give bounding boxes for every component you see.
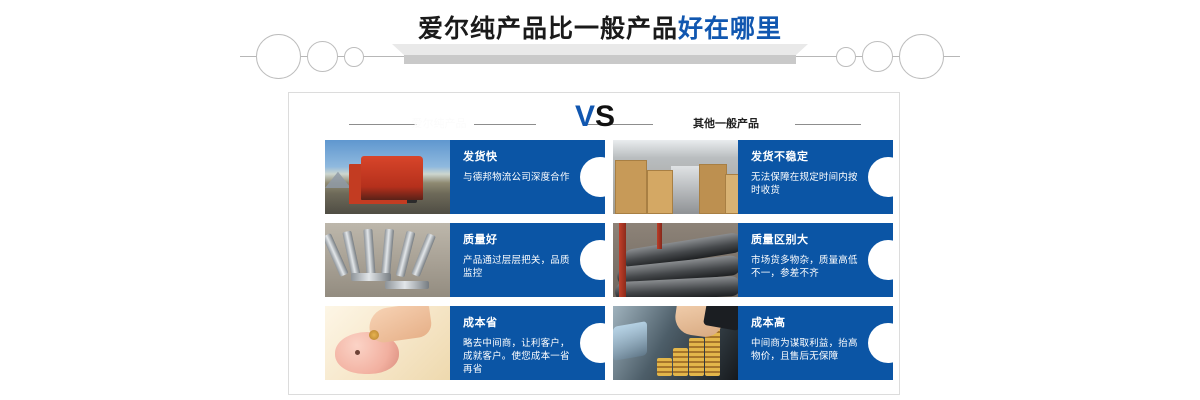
card-our-quality[interactable]: 质量好 产品通过层层把关，品质监控 (325, 223, 605, 297)
vs-badge: VS (289, 99, 901, 135)
card-our-cost[interactable]: 成本省 略去中间商，让利客户，成就客户。使您成本一省再省 (325, 306, 605, 380)
card-title: 发货快 (463, 151, 579, 164)
notch-circle-icon (868, 323, 893, 363)
card-title: 质量好 (463, 234, 579, 247)
gold-coins-photo (613, 306, 738, 380)
notch-circle-icon (580, 240, 605, 280)
card-desc: 略去中间商，让利客户，成就客户。使您成本一省再省 (463, 337, 579, 376)
page-title-plain: 爱尔纯产品比一般产品 (418, 15, 678, 43)
notch-circle-icon (868, 240, 893, 280)
column-other-products: 发货不稳定 无法保障在规定时间内按时收货 质量区别大 市场货多物杂，质量高低不一… (613, 140, 901, 389)
vs-letter-s: S (595, 100, 615, 133)
card-body: 发货快 与德邦物流公司深度合作 (450, 140, 605, 214)
pipes-photo (613, 223, 738, 297)
notch-circle-icon (868, 157, 893, 197)
title-plate-shape (392, 44, 808, 64)
card-other-quality[interactable]: 质量区别大 市场货多物杂，质量高低不一，参差不齐 (613, 223, 893, 297)
card-desc: 与德邦物流公司深度合作 (463, 171, 579, 184)
card-body: 成本高 中间商为谋取利益，抬高物价，且售后无保障 (738, 306, 893, 380)
piggy-bank-photo (325, 306, 450, 380)
card-desc: 中间商为谋取利益，抬高物价，且售后无保障 (751, 337, 867, 363)
card-desc: 产品通过层层把关，品质监控 (463, 254, 579, 280)
comparison-panel: 爱尔纯产品 其他一般产品 VS 发货快 与德邦物流公司深度合作 (288, 92, 900, 395)
truck-photo (325, 140, 450, 214)
vs-letter-v: V (575, 100, 595, 133)
notch-circle-icon (580, 323, 605, 363)
card-title: 成本高 (751, 317, 867, 330)
card-body: 质量区别大 市场货多物杂，质量高低不一，参差不齐 (738, 223, 893, 297)
page-header-banner: 爱尔纯产品比一般产品好在哪里 (0, 0, 1200, 88)
card-desc: 无法保障在规定时间内按时收货 (751, 171, 867, 197)
page-title-highlight: 好在哪里 (678, 15, 782, 43)
notch-circle-icon (580, 157, 605, 197)
warehouse-photo (613, 140, 738, 214)
card-title: 成本省 (463, 317, 579, 330)
card-desc: 市场货多物杂，质量高低不一，参差不齐 (751, 254, 867, 280)
card-body: 发货不稳定 无法保障在规定时间内按时收货 (738, 140, 893, 214)
card-other-shipping[interactable]: 发货不稳定 无法保障在规定时间内按时收货 (613, 140, 893, 214)
card-body: 成本省 略去中间商，让利客户，成就客户。使您成本一省再省 (450, 306, 605, 380)
vs-header-row: 爱尔纯产品 其他一般产品 VS (289, 99, 901, 135)
page-title: 爱尔纯产品比一般产品好在哪里 (0, 12, 1200, 46)
card-body: 质量好 产品通过层层把关，品质监控 (450, 223, 605, 297)
card-our-shipping[interactable]: 发货快 与德邦物流公司深度合作 (325, 140, 605, 214)
decor-circle-right-small (836, 47, 856, 67)
card-title: 质量区别大 (751, 234, 867, 247)
column-our-products: 发货快 与德邦物流公司深度合作 质量好 产品通过层层把关，品质监控 (325, 140, 613, 389)
decor-circle-left-small (344, 47, 364, 67)
comparison-columns: 发货快 与德邦物流公司深度合作 质量好 产品通过层层把关，品质监控 (289, 140, 901, 388)
card-other-cost[interactable]: 成本高 中间商为谋取利益，抬高物价，且售后无保障 (613, 306, 893, 380)
card-title: 发货不稳定 (751, 151, 867, 164)
steel-parts-photo (325, 223, 450, 297)
